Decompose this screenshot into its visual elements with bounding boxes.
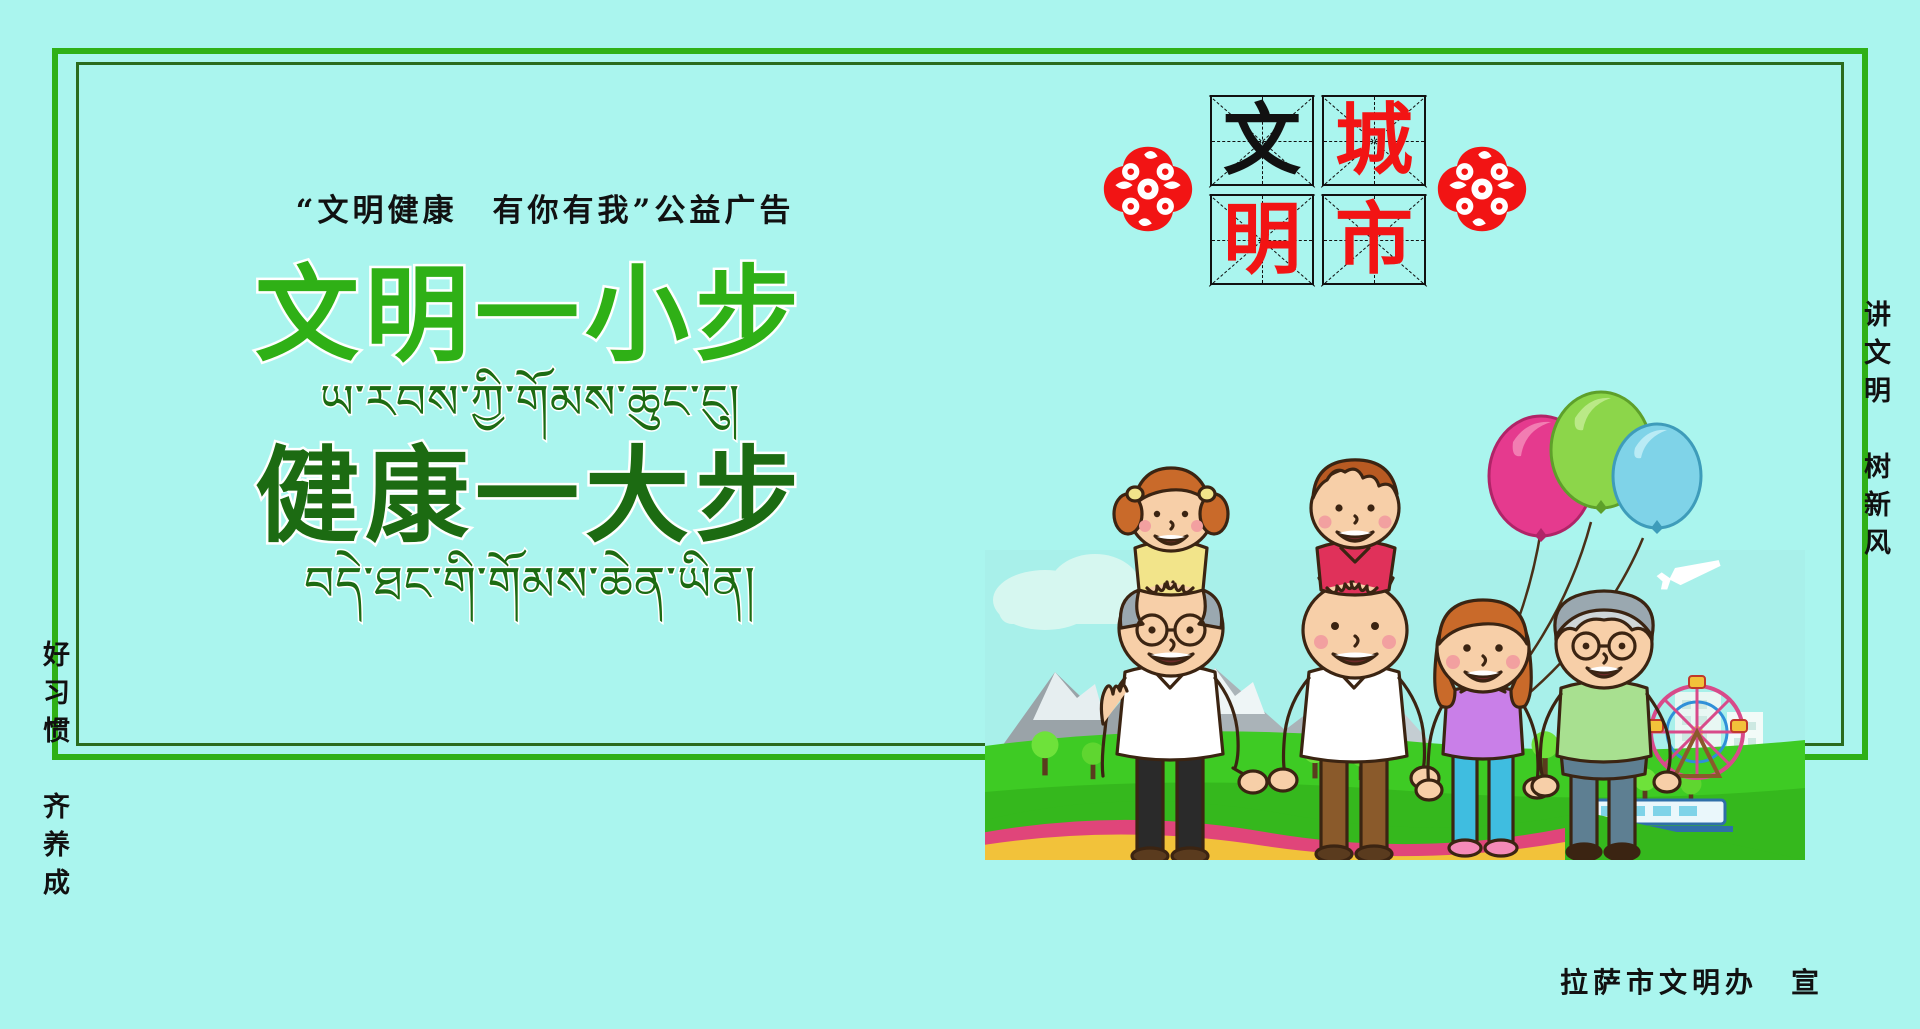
grid-cell-ming: 明 <box>1210 194 1314 285</box>
headline-line-2-tibetan: བདེ་ཐང་གི་གོམས་ཆེན་ཡིན། <box>150 554 910 615</box>
headline-block: “文明健康 有你有我”公益广告 文明一小步 ཡ་རབས་ཀྱི་གོམས་ཆུང… <box>150 185 910 615</box>
poster-canvas: 好习惯 齐养成 讲文明 树新风 “文明健康 有你有我”公益广告 文明一小步 ཡ་… <box>0 0 1920 1029</box>
character-grid: 文 城 明 市 <box>1210 95 1426 285</box>
headline-line-1-zh: 文明一小步 <box>150 260 910 370</box>
headline-line-1-tibetan: ཡ་རབས་ཀྱི་གོམས་ཆུང་ངུ། <box>150 372 910 433</box>
papercut-ornament-icon <box>1434 137 1530 241</box>
grid-cell-wen: 文 <box>1210 95 1314 186</box>
balloon-blue <box>1613 424 1701 534</box>
campaign-kicker: “文明健康 有你有我”公益广告 <box>180 185 910 230</box>
grid-char-3: 明 <box>1212 196 1312 283</box>
headline-line-2-zh: 健康一大步 <box>150 441 910 551</box>
slogan-right: 讲文明 树新风 <box>1861 300 1888 566</box>
grid-char-4: 市 <box>1324 196 1424 283</box>
civilized-city-seal: 文 城 明 市 <box>1100 95 1530 290</box>
publisher-credit: 拉萨市文明办 宣 <box>1560 961 1824 1001</box>
grid-cell-shi: 市 <box>1322 194 1426 285</box>
family-illustration <box>985 300 1805 860</box>
grid-cell-cheng: 城 <box>1322 95 1426 186</box>
boy-on-shoulders <box>1311 460 1399 595</box>
grid-char-2: 城 <box>1324 97 1424 184</box>
papercut-ornament-icon <box>1100 137 1196 241</box>
slogan-left: 好习惯 齐养成 <box>40 640 67 906</box>
grid-char-1: 文 <box>1212 97 1312 184</box>
